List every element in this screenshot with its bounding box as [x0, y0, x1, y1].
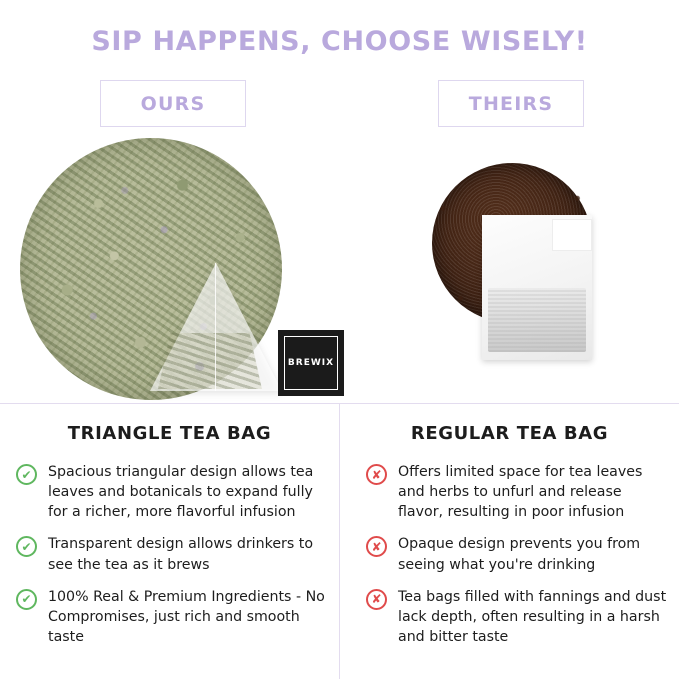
list-item-text: 100% Real & Premium Ingredients - No Com…: [48, 587, 331, 647]
list-item-text: Spacious triangular design allows tea le…: [48, 462, 331, 522]
brand-name-label: BREWIX: [288, 358, 334, 368]
list-item-text: Offers limited space for tea leaves and …: [398, 462, 671, 522]
product-image-area: BREWIX: [0, 135, 679, 400]
cross-icon: ✘: [366, 589, 387, 610]
left-bullet-list: ✔ Spacious triangular design allows tea …: [0, 462, 339, 647]
pyramid-bag-seam: [215, 263, 216, 391]
list-item-text: Tea bags filled with fannings and dust l…: [398, 587, 671, 647]
check-icon: ✔: [16, 589, 37, 610]
cross-icon: ✘: [366, 536, 387, 557]
right-bullet-list: ✘ Offers limited space for tea leaves an…: [340, 462, 679, 647]
brand-logo-tag: BREWIX: [278, 330, 344, 396]
tea-bag-paper-tag: [552, 219, 592, 251]
right-column-title: REGULAR TEA BAG: [340, 423, 679, 444]
list-item: ✘ Opaque design prevents you from seeing…: [340, 534, 679, 574]
brand-logo-frame: BREWIX: [284, 336, 338, 390]
right-column: REGULAR TEA BAG ✘ Offers limited space f…: [340, 403, 679, 679]
left-column: TRIANGLE TEA BAG ✔ Spacious triangular d…: [0, 403, 339, 679]
list-item: ✘ Offers limited space for tea leaves an…: [340, 462, 679, 522]
list-item: ✔ Transparent design allows drinkers to …: [0, 534, 339, 574]
column-badge-theirs: THEIRS: [438, 80, 584, 127]
column-badge-ours: OURS: [100, 80, 246, 127]
comparison-infographic: SIP HAPPENS, CHOOSE WISELY! OURS THEIRS …: [0, 0, 679, 679]
page-title: SIP HAPPENS, CHOOSE WISELY!: [0, 26, 679, 57]
check-icon: ✔: [16, 464, 37, 485]
cross-icon: ✘: [366, 464, 387, 485]
pyramid-bag-contents: [158, 333, 262, 389]
comparison-details: TRIANGLE TEA BAG ✔ Spacious triangular d…: [0, 403, 679, 679]
check-icon: ✔: [16, 536, 37, 557]
list-item: ✔ Spacious triangular design allows tea …: [0, 462, 339, 522]
list-item: ✔ 100% Real & Premium Ingredients - No C…: [0, 587, 339, 647]
list-item-text: Opaque design prevents you from seeing w…: [398, 534, 671, 574]
list-item: ✘ Tea bags filled with fannings and dust…: [340, 587, 679, 647]
left-column-title: TRIANGLE TEA BAG: [0, 423, 339, 444]
list-item-text: Transparent design allows drinkers to se…: [48, 534, 331, 574]
